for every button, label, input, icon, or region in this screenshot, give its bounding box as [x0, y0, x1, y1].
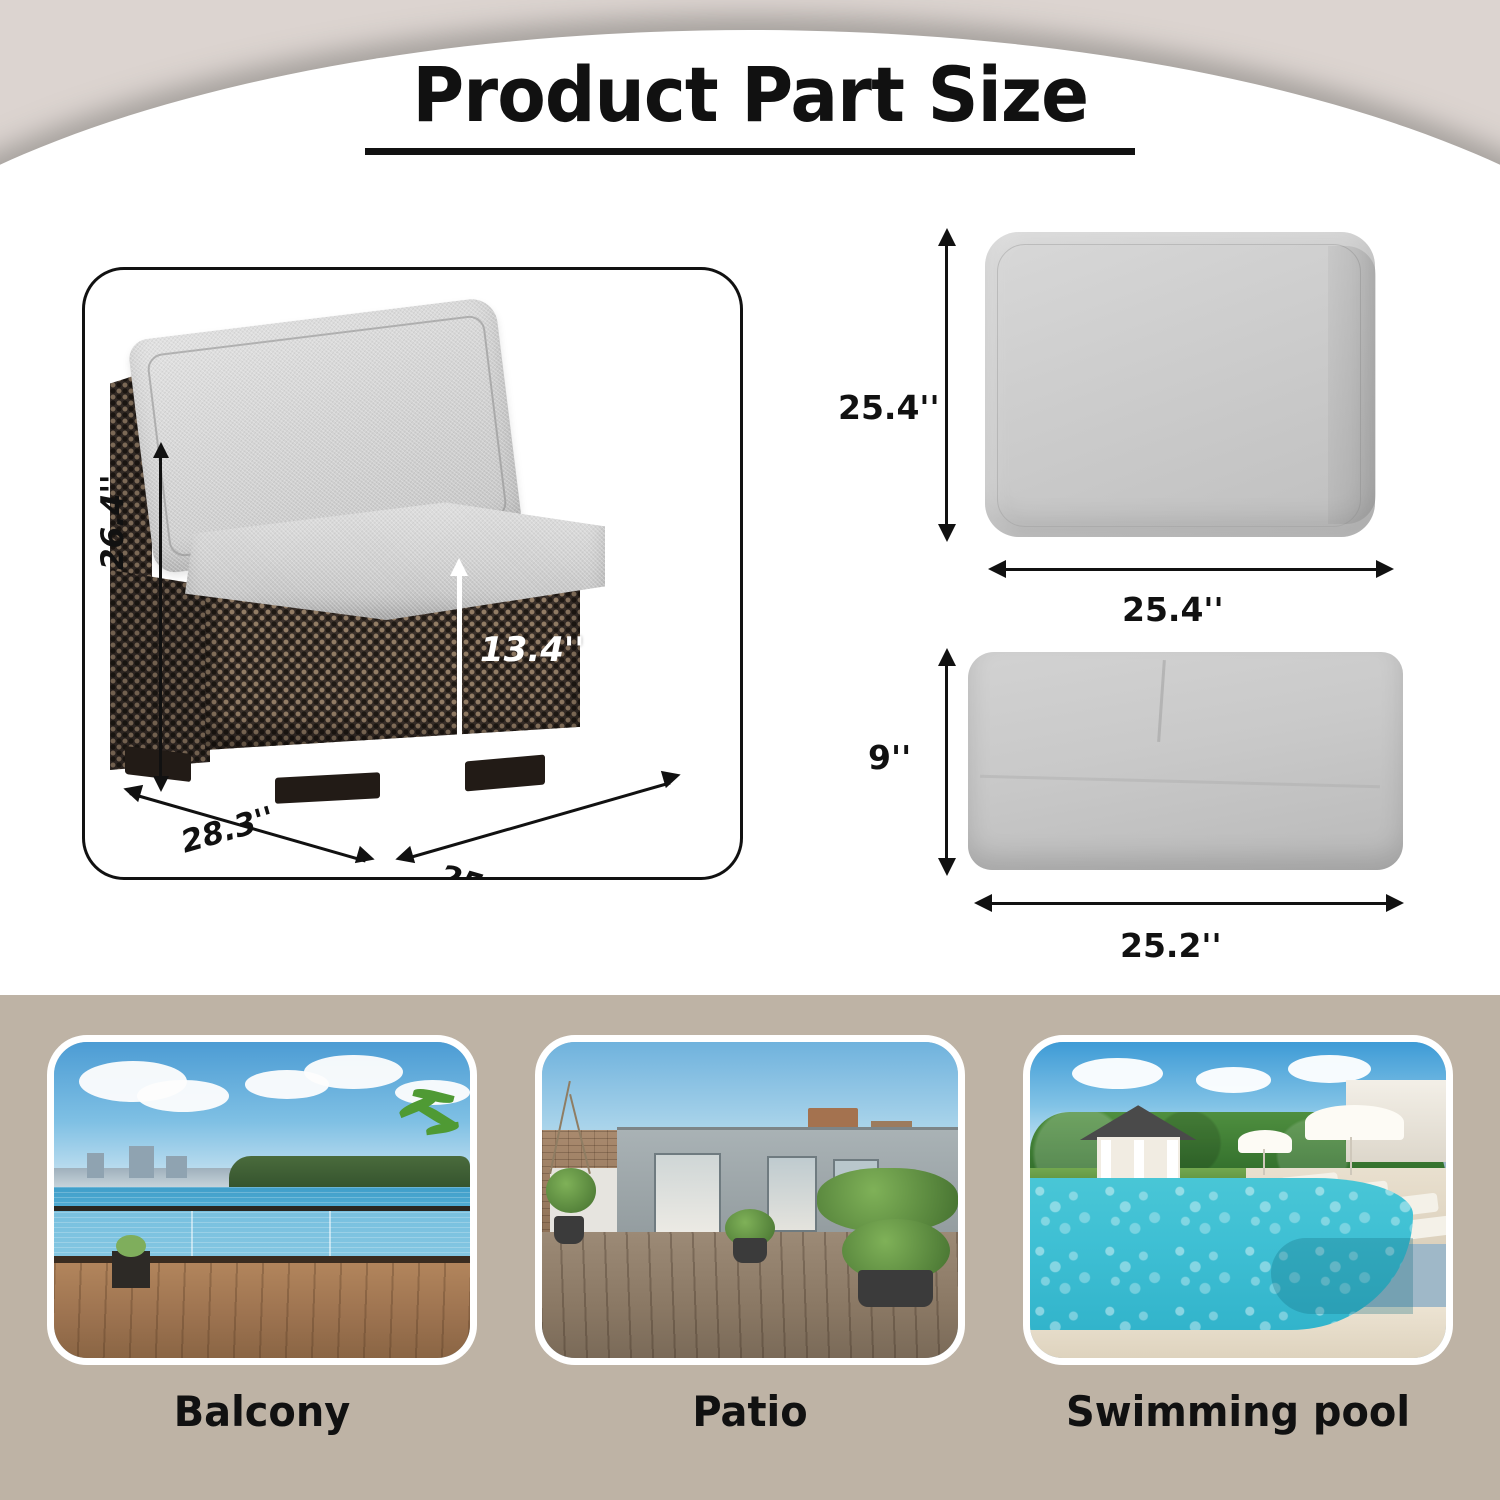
- arrowhead-right-back-cushion-width: [1386, 894, 1404, 912]
- arrowhead-down-seat-height: [450, 748, 468, 766]
- pool-gazebo-column-3: [1167, 1140, 1177, 1181]
- arrowhead-left-width: [393, 846, 415, 868]
- pool-steps: [1271, 1238, 1412, 1314]
- patio-pot-3: [858, 1270, 933, 1308]
- seat-cushion-panel: 25.4'' 25.4'': [830, 210, 1470, 630]
- back-cushion-part: [968, 652, 1403, 870]
- arrowhead-left-seat-cushion-width: [988, 560, 1006, 578]
- back-cushion-panel: 9'' 25.2'': [830, 630, 1470, 975]
- arrowhead-up-seat-cushion-height: [938, 228, 956, 246]
- arrowhead-down-back-cushion-height: [938, 858, 956, 876]
- dimension-line-height: [159, 452, 162, 782]
- title-wrap: Product Part Size: [0, 52, 1500, 138]
- scene-photo-patio: [535, 1035, 965, 1365]
- product-diagram-panel: 26.4'' 13.4'' 28.3'' 25.2'': [82, 267, 743, 880]
- patio-pot-2: [733, 1238, 766, 1263]
- arrowhead-left-back-cushion-width: [974, 894, 992, 912]
- pool-umbrella-1: [1238, 1130, 1292, 1152]
- scene-caption-balcony: Balcony: [58, 1387, 467, 1436]
- page-title: Product Part Size: [412, 52, 1088, 138]
- dimension-line-seat-cushion-width: [1006, 568, 1376, 571]
- seat-cushion-side-face: [1328, 246, 1376, 524]
- pool-umbrella-2: [1305, 1105, 1405, 1140]
- pool-cloud-3: [1288, 1055, 1371, 1083]
- arrowhead-right-seat-cushion-width: [1376, 560, 1394, 578]
- balcony-tower-2: [129, 1146, 154, 1178]
- arrowhead-right-depth: [355, 846, 377, 868]
- arrowhead-up-seat-height: [450, 558, 468, 576]
- patio-glass-door-right: [767, 1156, 817, 1232]
- dimension-label-seat-cushion-width: 25.4'': [1122, 590, 1224, 629]
- pool-gazebo-column-1: [1101, 1140, 1111, 1181]
- balcony-cloud-2: [137, 1080, 229, 1112]
- usage-scenarios-band: Balcony Patio: [0, 995, 1500, 1500]
- dimension-label-back-cushion-width: 25.2'': [1120, 926, 1222, 965]
- pool-cloud-2: [1196, 1067, 1271, 1092]
- dimension-label-height: 26.4'': [95, 475, 131, 570]
- dimension-label-width: 25.2'': [435, 858, 537, 880]
- arrowhead-down-seat-cushion-height: [938, 524, 956, 542]
- scene-photo-balcony: [47, 1035, 477, 1365]
- balcony-glass-divider-2: [329, 1211, 331, 1255]
- balcony-glass-divider-1: [191, 1211, 193, 1255]
- pool-umbrella-pole-2: [1350, 1137, 1352, 1175]
- scene-card-balcony[interactable]: Balcony: [47, 1035, 477, 1436]
- scene-card-pool[interactable]: Swimming pool: [1023, 1035, 1453, 1436]
- patio-topiary: [546, 1168, 596, 1212]
- scene-caption-pool: Swimming pool: [1034, 1387, 1443, 1436]
- arrowhead-down-height: [153, 776, 169, 792]
- dimension-line-back-cushion-width: [992, 902, 1386, 905]
- patio-glass-door-left: [654, 1153, 721, 1235]
- arrowhead-right-width: [661, 766, 683, 788]
- balcony-tower-3: [166, 1156, 187, 1178]
- scene-caption-patio: Patio: [546, 1387, 955, 1436]
- dimension-label-seat-cushion-height: 25.4'': [838, 388, 940, 427]
- main-content: 26.4'' 13.4'' 28.3'' 25.2'' 25.4'': [0, 200, 1500, 995]
- header-banner: Product Part Size: [0, 0, 1500, 200]
- dimension-line-seat-height: [457, 570, 462, 755]
- patio-pot-1: [554, 1216, 583, 1244]
- arrowhead-up-height: [153, 442, 169, 458]
- scene-card-patio[interactable]: Patio: [535, 1035, 965, 1436]
- balcony-palm-tree: [403, 1086, 470, 1168]
- dimension-line-width: [403, 781, 671, 861]
- seat-cushion-piping: [997, 244, 1361, 527]
- dimension-line-seat-cushion-height: [945, 244, 948, 526]
- balcony-plant: [116, 1235, 145, 1257]
- pool-umbrella-pole-1: [1263, 1149, 1265, 1174]
- title-underline: [365, 148, 1135, 155]
- dimension-label-back-cushion-height: 9'': [868, 738, 911, 777]
- balcony-tower-1: [87, 1153, 104, 1178]
- chair-illustration: 26.4'' 13.4'' 28.3'' 25.2'': [85, 270, 740, 877]
- sofa-foot-center: [275, 772, 380, 804]
- sofa-foot-right: [465, 755, 545, 792]
- arrowhead-up-back-cushion-height: [938, 648, 956, 666]
- scene-photo-pool: [1023, 1035, 1453, 1365]
- pool-gazebo-column-2: [1134, 1140, 1144, 1181]
- arrowhead-left-depth: [121, 780, 143, 802]
- dimension-line-back-cushion-height: [945, 664, 948, 860]
- dimension-label-seat-height: 13.4'': [480, 630, 585, 670]
